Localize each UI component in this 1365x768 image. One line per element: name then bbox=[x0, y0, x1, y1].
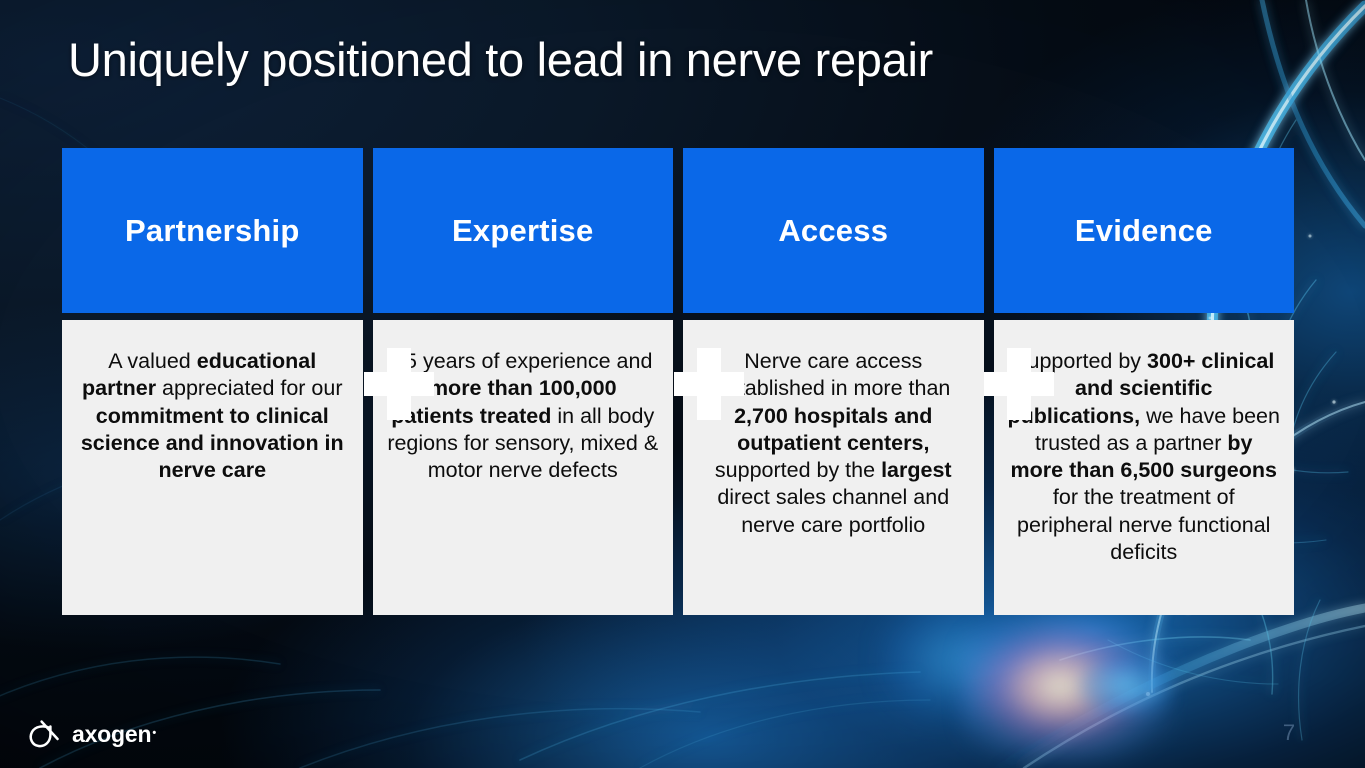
pillar-body-partnership: A valued educational partner appreciated… bbox=[62, 320, 363, 615]
trademark-icon: • bbox=[152, 727, 156, 739]
pillar-header-spacer bbox=[62, 313, 363, 320]
pillar-header-label: Partnership bbox=[125, 213, 299, 249]
pillar-header-spacer bbox=[994, 313, 1295, 320]
background-light-bloom-secondary bbox=[1078, 655, 1174, 717]
pillar-column-partnership: Partnership A valued educational partner… bbox=[62, 148, 363, 615]
axogen-a-mark-icon bbox=[27, 714, 63, 754]
axogen-logo: axogen• bbox=[27, 714, 156, 754]
pillar-header-label: Expertise bbox=[452, 213, 593, 249]
pillar-column-access: Access Nerve care access established in … bbox=[683, 148, 984, 615]
pillar-body-evidence: Supported by 300+ clinical and scientifi… bbox=[994, 320, 1295, 615]
page-number: 7 bbox=[1276, 720, 1302, 746]
pillar-header-label: Access bbox=[778, 213, 888, 249]
slide-canvas: Uniquely positioned to lead in nerve rep… bbox=[0, 0, 1365, 768]
page-title: Uniquely positioned to lead in nerve rep… bbox=[68, 28, 1248, 92]
pillar-header-evidence: Evidence bbox=[994, 148, 1295, 313]
pillar-body-access: Nerve care access established in more th… bbox=[683, 320, 984, 615]
pillar-header-spacer bbox=[683, 313, 984, 320]
pillar-columns: Partnership A valued educational partner… bbox=[62, 148, 1294, 615]
axogen-wordmark-text: axogen bbox=[72, 721, 151, 747]
axogen-wordmark: axogen• bbox=[72, 723, 156, 746]
pillar-header-label: Evidence bbox=[1075, 213, 1213, 249]
pillar-header-spacer bbox=[373, 313, 674, 320]
pillar-header-partnership: Partnership bbox=[62, 148, 363, 313]
pillar-column-expertise: Expertise 15 years of experience and mor… bbox=[373, 148, 674, 615]
pillar-header-expertise: Expertise bbox=[373, 148, 674, 313]
pillar-body-expertise: 15 years of experience and more than 100… bbox=[373, 320, 674, 615]
pillar-column-evidence: Evidence Supported by 300+ clinical and … bbox=[994, 148, 1295, 615]
pillar-header-access: Access bbox=[683, 148, 984, 313]
